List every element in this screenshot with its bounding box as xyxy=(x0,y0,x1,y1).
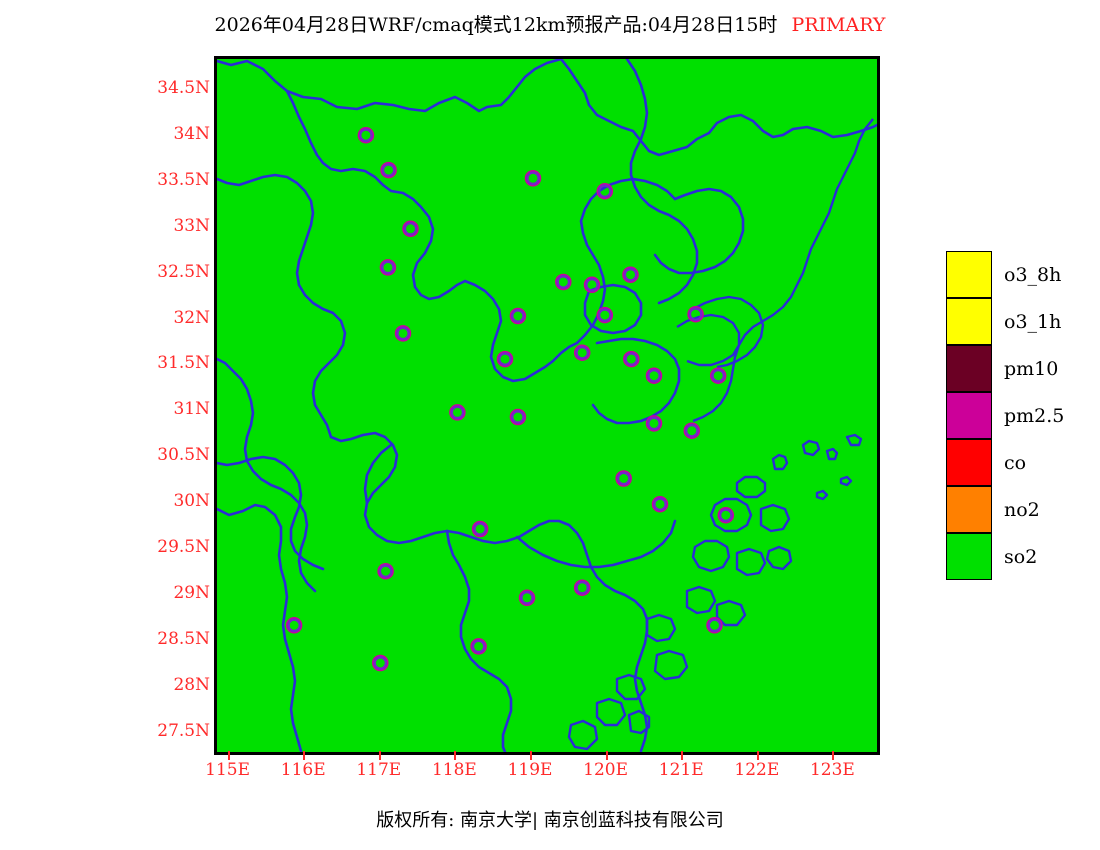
legend-label: no2 xyxy=(1004,499,1040,521)
legend-item-so2[interactable]: so2 xyxy=(946,533,1064,580)
station-markers xyxy=(287,128,734,671)
station-marker[interactable] xyxy=(625,353,637,365)
footer-copyright: 版权所有: 南京大学| 南京创蓝科技有限公司 xyxy=(0,806,1100,832)
station-marker[interactable] xyxy=(654,498,666,510)
station-marker[interactable] xyxy=(382,164,394,176)
legend: o3_8ho3_1hpm10pm2.5cono2so2 xyxy=(946,251,1064,580)
legend-label: pm10 xyxy=(1004,358,1058,380)
station-marker[interactable] xyxy=(648,370,660,382)
y-axis-label: 32.5N xyxy=(136,262,210,282)
legend-label: co xyxy=(1004,452,1026,474)
legend-item-co[interactable]: co xyxy=(946,439,1064,486)
x-axis-label: 122E xyxy=(722,760,792,780)
x-axis-tick xyxy=(379,751,381,760)
legend-swatch xyxy=(946,345,992,392)
legend-label: o3_1h xyxy=(1004,311,1061,333)
legend-swatch xyxy=(946,486,992,533)
y-axis-label: 29.5N xyxy=(136,537,210,557)
y-axis-label: 31.5N xyxy=(136,353,210,373)
station-marker[interactable] xyxy=(599,309,611,321)
legend-swatch xyxy=(946,251,992,298)
x-axis-label: 116E xyxy=(268,760,338,780)
x-axis-tick xyxy=(530,751,532,760)
station-marker[interactable] xyxy=(521,592,533,604)
legend-swatch xyxy=(946,439,992,486)
station-marker[interactable] xyxy=(360,129,372,141)
y-axis-label: 29N xyxy=(136,583,210,603)
station-marker[interactable] xyxy=(576,347,588,359)
y-axis-label: 30.5N xyxy=(136,445,210,465)
x-axis-tick xyxy=(757,751,759,760)
station-marker[interactable] xyxy=(720,509,732,521)
station-marker[interactable] xyxy=(404,223,416,235)
station-marker[interactable] xyxy=(512,310,524,322)
y-axis-label: 31N xyxy=(136,399,210,419)
y-axis-label: 32N xyxy=(136,308,210,328)
legend-label: so2 xyxy=(1004,546,1037,568)
station-marker[interactable] xyxy=(472,640,484,652)
x-axis-tick xyxy=(681,751,683,760)
station-marker[interactable] xyxy=(499,353,511,365)
y-axis-label: 30N xyxy=(136,491,210,511)
y-axis-label: 27.5N xyxy=(136,721,210,741)
title-primary-badge: PRIMARY xyxy=(777,14,885,36)
legend-label: pm2.5 xyxy=(1004,405,1064,427)
x-axis-label: 123E xyxy=(797,760,867,780)
legend-swatch xyxy=(946,298,992,345)
coastline xyxy=(569,119,873,749)
station-marker[interactable] xyxy=(527,172,539,184)
legend-item-pm10[interactable]: pm10 xyxy=(946,345,1064,392)
station-marker[interactable] xyxy=(397,327,409,339)
station-marker[interactable] xyxy=(382,261,394,273)
x-axis-label: 117E xyxy=(344,760,414,780)
x-axis-label: 120E xyxy=(571,760,641,780)
x-axis: 115E116E117E118E119E120E121E122E123E xyxy=(214,760,880,790)
x-axis-label: 119E xyxy=(495,760,565,780)
title-main-text: 2026年04月28日WRF/cmaq模式12km预报产品:04月28日15时 xyxy=(215,14,778,36)
x-axis-tick xyxy=(303,751,305,760)
legend-item-o3-1h[interactable]: o3_1h xyxy=(946,298,1064,345)
legend-item-no2[interactable]: no2 xyxy=(946,486,1064,533)
y-axis-label: 34N xyxy=(136,124,210,144)
x-axis-tick xyxy=(832,751,834,760)
station-marker[interactable] xyxy=(374,657,386,669)
x-axis-tick xyxy=(606,751,608,760)
page-title: 2026年04月28日WRF/cmaq模式12km预报产品:04月28日15时P… xyxy=(0,10,1100,40)
y-axis: 34.5N34N33.5N33N32.5N32N31.5N31N30.5N30N… xyxy=(130,56,210,755)
station-marker[interactable] xyxy=(708,619,720,631)
station-marker[interactable] xyxy=(712,370,724,382)
station-marker[interactable] xyxy=(686,425,698,437)
y-axis-label: 33.5N xyxy=(136,170,210,190)
station-marker[interactable] xyxy=(624,269,636,281)
station-marker[interactable] xyxy=(648,417,660,429)
map-plot-area[interactable] xyxy=(214,56,880,755)
y-axis-label: 28N xyxy=(136,675,210,695)
x-axis-tick xyxy=(454,751,456,760)
legend-swatch xyxy=(946,392,992,439)
station-marker[interactable] xyxy=(576,582,588,594)
x-axis-tick xyxy=(228,751,230,760)
map-canvas xyxy=(217,59,877,752)
legend-swatch xyxy=(946,533,992,580)
station-marker[interactable] xyxy=(451,406,463,418)
legend-label: o3_8h xyxy=(1004,264,1061,286)
station-marker[interactable] xyxy=(557,276,569,288)
station-marker[interactable] xyxy=(379,565,391,577)
y-axis-label: 34.5N xyxy=(136,78,210,98)
x-axis-label: 121E xyxy=(646,760,716,780)
legend-item-pm2-5[interactable]: pm2.5 xyxy=(946,392,1064,439)
y-axis-label: 28.5N xyxy=(136,629,210,649)
station-marker[interactable] xyxy=(474,523,486,535)
station-marker[interactable] xyxy=(288,619,300,631)
x-axis-label: 118E xyxy=(419,760,489,780)
station-marker[interactable] xyxy=(618,472,630,484)
y-axis-label: 33N xyxy=(136,216,210,236)
x-axis-label: 115E xyxy=(193,760,263,780)
station-marker[interactable] xyxy=(512,411,524,423)
province-boundaries xyxy=(217,59,877,752)
legend-item-o3-8h[interactable]: o3_8h xyxy=(946,251,1064,298)
